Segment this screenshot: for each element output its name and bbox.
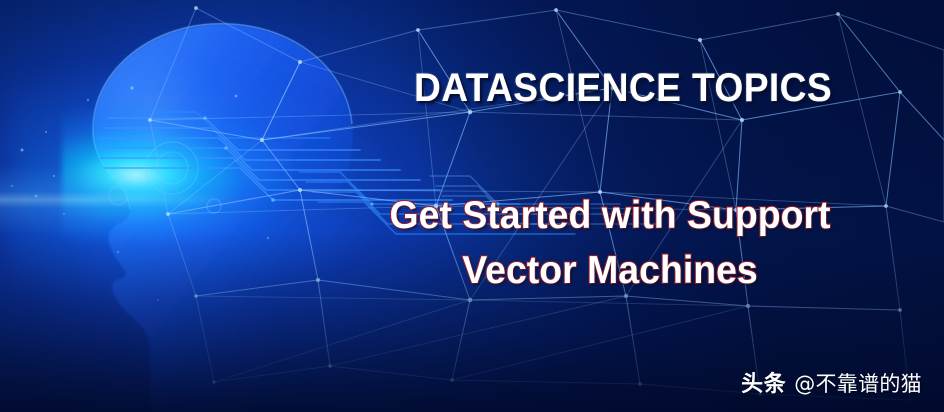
watermark-brand: 头条	[741, 366, 786, 398]
watermark: 头条 @不靠谱的猫	[741, 366, 922, 398]
page-subtitle: Get Started with Support Vector Machines	[322, 188, 898, 299]
watermark-handle: @不靠谱的猫	[794, 368, 922, 398]
page-subtitle-line-1: Get Started with Support	[322, 188, 898, 243]
datascience-topics-banner: DATASCIENCE TOPICS Get Started with Supp…	[0, 0, 944, 412]
page-title: DATASCIENCE TOPICS	[381, 68, 865, 108]
page-subtitle-line-2: Vector Machines	[322, 243, 898, 298]
